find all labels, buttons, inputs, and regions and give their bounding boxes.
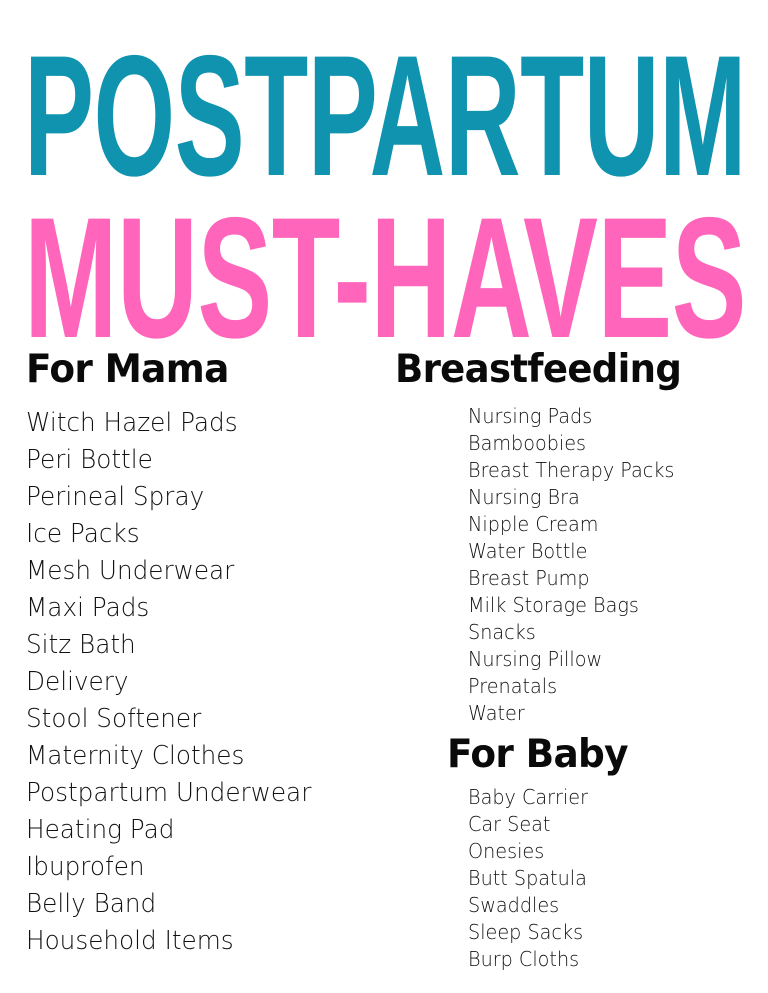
list-item[interactable]: Onesies <box>468 838 756 865</box>
list-item[interactable]: Ice Packs <box>26 516 367 553</box>
poster-title-block: POSTPARTUM MUST-HAVES <box>0 0 768 332</box>
list-item[interactable]: Prenatals <box>468 673 756 700</box>
list-item[interactable]: Household Items <box>26 923 367 960</box>
list-item[interactable]: Nipple Cream <box>468 511 756 538</box>
list-item[interactable]: Nursing Pillow <box>468 646 756 673</box>
list-item[interactable]: Milk Storage Bags <box>468 592 756 619</box>
list-item[interactable]: Stool Softener <box>26 701 367 738</box>
list-item[interactable]: Delivery <box>26 664 367 701</box>
poster-title-line-1: POSTPARTUM <box>24 30 746 202</box>
list-item[interactable]: Peri Bottle <box>26 442 367 479</box>
list-item[interactable]: Butt Spatula <box>468 865 756 892</box>
list-for-baby: Baby Carrier Car Seat Onesies Butt Spatu… <box>468 784 768 973</box>
list-item[interactable]: Maternity Clothes <box>26 738 367 775</box>
list-item[interactable]: Maxi Pads <box>26 590 367 627</box>
section-for-mama: For Mama Witch Hazel Pads Peri Bottle Pe… <box>0 350 385 960</box>
list-item[interactable]: Sitz Bath <box>26 627 367 664</box>
list-item[interactable]: Sleep Sacks <box>468 919 756 946</box>
list-item[interactable]: Perineal Spray <box>26 479 367 516</box>
list-item[interactable]: Ibuprofen <box>26 849 367 886</box>
list-item[interactable]: Belly Band <box>26 886 367 923</box>
checklist-columns: For Mama Witch Hazel Pads Peri Bottle Pe… <box>0 332 768 993</box>
list-for-mama: Witch Hazel Pads Peri Bottle Perineal Sp… <box>26 405 385 960</box>
section-heading-breastfeeding: Breastfeeding <box>395 350 749 389</box>
section-heading-for-baby: For Baby <box>447 735 755 774</box>
column-right: Breastfeeding Nursing Pads Bamboobies Br… <box>385 332 768 973</box>
list-item[interactable]: Snacks <box>468 619 756 646</box>
list-item[interactable]: Swaddles <box>468 892 756 919</box>
section-breastfeeding: Breastfeeding Nursing Pads Bamboobies Br… <box>385 350 768 727</box>
list-item[interactable]: Car Seat <box>468 811 756 838</box>
list-item[interactable]: Water Bottle <box>468 538 756 565</box>
list-item[interactable]: Mesh Underwear <box>26 553 367 590</box>
list-item[interactable]: Breast Pump <box>468 565 756 592</box>
list-breastfeeding: Nursing Pads Bamboobies Breast Therapy P… <box>468 403 768 727</box>
list-item[interactable]: Nursing Pads <box>468 403 756 430</box>
list-item[interactable]: Baby Carrier <box>468 784 756 811</box>
list-item[interactable]: Postpartum Underwear <box>26 775 367 812</box>
list-item[interactable]: Bamboobies <box>468 430 756 457</box>
list-item[interactable]: Breast Therapy Packs <box>468 457 756 484</box>
section-for-baby: For Baby Baby Carrier Car Seat Onesies B… <box>385 735 768 973</box>
list-item[interactable]: Burp Cloths <box>468 946 756 973</box>
column-left: For Mama Witch Hazel Pads Peri Bottle Pe… <box>0 332 385 960</box>
list-item[interactable]: Nursing Bra <box>468 484 756 511</box>
list-item[interactable]: Water <box>468 700 756 727</box>
list-item[interactable]: Witch Hazel Pads <box>26 405 367 442</box>
section-heading-for-mama: For Mama <box>26 350 371 389</box>
list-item[interactable]: Heating Pad <box>26 812 367 849</box>
